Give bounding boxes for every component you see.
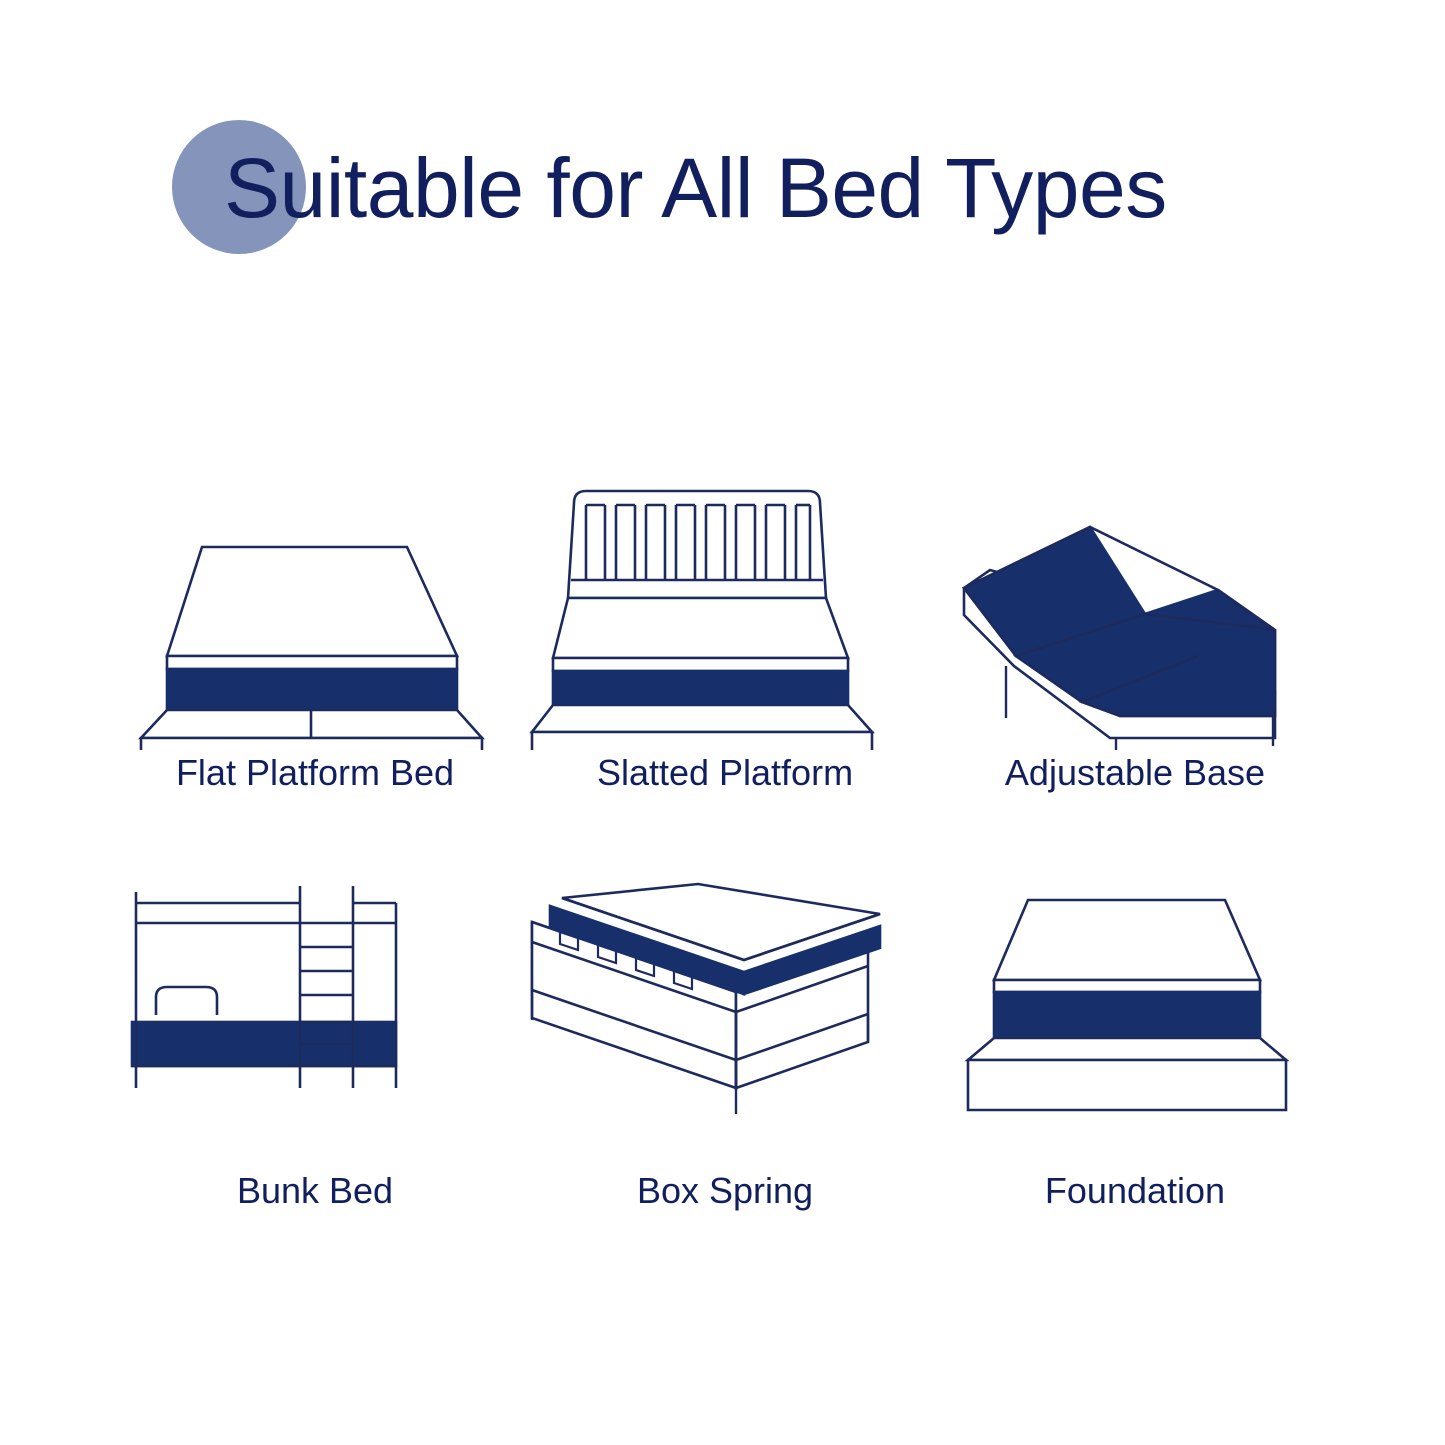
bed-type-label: Adjustable Base: [930, 752, 1340, 794]
foundation-icon: [930, 870, 1340, 1150]
page-title: Suitable for All Bed Types: [224, 118, 1167, 258]
bed-type-card-foundation: Foundation: [930, 870, 1340, 1240]
box-spring-icon: [520, 870, 930, 1150]
bed-types-infographic: Suitable for All Bed Types: [0, 0, 1445, 1445]
bed-type-card-adjustable-base: Adjustable Base: [930, 470, 1340, 840]
bed-types-row-1: Flat Platform Bed: [110, 470, 1340, 840]
bed-type-label: Foundation: [930, 1170, 1340, 1212]
bed-types-row-2: Bunk Bed: [110, 870, 1340, 1240]
title-block: Suitable for All Bed Types: [0, 118, 1445, 258]
slatted-platform-bed-icon: [520, 470, 930, 750]
bed-types-grid: Flat Platform Bed: [110, 470, 1340, 1260]
bed-type-label: Slatted Platform: [520, 752, 930, 794]
adjustable-base-icon: [930, 470, 1340, 750]
bed-type-card-slatted-platform: Slatted Platform: [520, 470, 930, 840]
bed-type-label: Bunk Bed: [110, 1170, 520, 1212]
flat-platform-bed-icon: [110, 470, 520, 750]
bunk-bed-icon: [110, 870, 520, 1150]
bed-type-card-flat-platform-bed: Flat Platform Bed: [110, 470, 520, 840]
bed-type-card-box-spring: Box Spring: [520, 870, 930, 1240]
bed-type-card-bunk-bed: Bunk Bed: [110, 870, 520, 1240]
bed-type-label: Box Spring: [520, 1170, 930, 1212]
bed-type-label: Flat Platform Bed: [110, 752, 520, 794]
